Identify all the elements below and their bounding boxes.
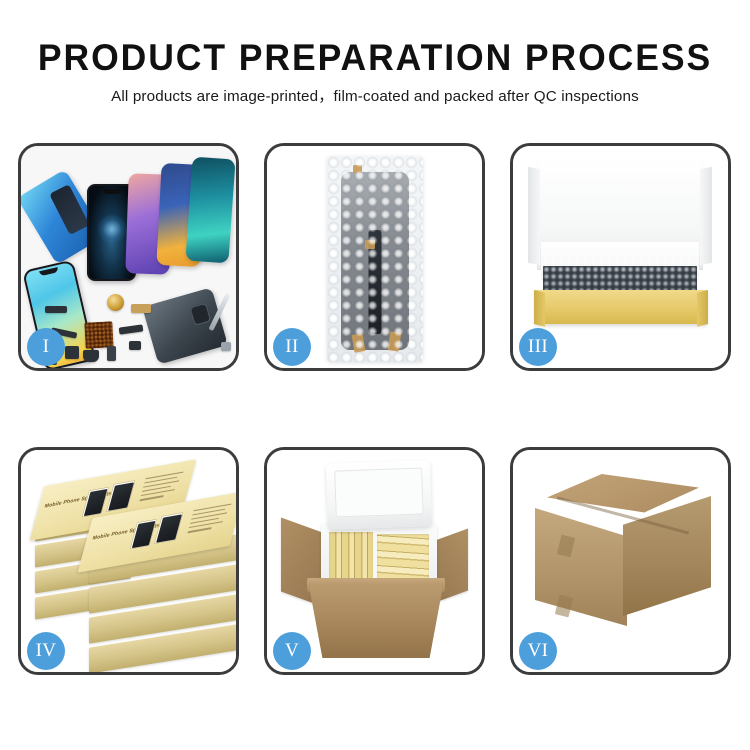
carton-side-face [623, 496, 711, 616]
page-title: PRODUCT PREPARATION PROCESS [15, 36, 735, 80]
teal-phone-icon [185, 157, 235, 264]
yellow-boxes-column-left [329, 532, 373, 580]
tape-strip-icon [353, 165, 362, 173]
step-panel-3[interactable]: III [510, 143, 731, 371]
step-badge-4: IV [27, 632, 65, 670]
tape-strip-icon [387, 331, 401, 351]
step-badge-1: I [27, 328, 65, 366]
step-panel-2[interactable]: II [264, 143, 485, 371]
spare-part-icon [131, 304, 151, 313]
packed-boxes-area [329, 530, 429, 582]
step-panel-6[interactable]: VI [510, 447, 731, 675]
step-badge-3: III [519, 328, 557, 366]
kraft-box-stack-icon: Mobile Phone Spare Parts Mobile Phone Sp… [31, 468, 231, 660]
chip-array-part-icon [84, 321, 113, 348]
bubble-padding-icon [543, 266, 697, 292]
carton-front-face [535, 508, 627, 626]
carton-tape-icon [555, 595, 573, 618]
box-spec-lines [185, 503, 236, 542]
step-badge-5: V [273, 632, 311, 670]
step-badge-2: II [273, 328, 311, 366]
header: PRODUCT PREPARATION PROCESS All products… [0, 0, 750, 107]
gold-coil-part-icon [107, 294, 124, 311]
step-panel-5[interactable]: V [264, 447, 485, 675]
spare-part-icon [119, 324, 144, 334]
tape-strip-icon [351, 333, 365, 352]
yellow-box-front-icon [535, 290, 707, 324]
spare-part-icon [107, 346, 116, 361]
box-window-icon [130, 519, 157, 550]
product-preparation-process-page: PRODUCT PREPARATION PROCESS All products… [0, 0, 750, 750]
box-window-icon [106, 480, 136, 512]
spare-part-icon [129, 341, 141, 350]
tape-strip-icon [365, 240, 375, 249]
page-subtitle: All products are image-printed，film-coat… [0, 87, 750, 107]
process-steps-grid: I II [18, 143, 732, 675]
spare-part-icon [65, 346, 79, 359]
spare-part-icon [83, 350, 99, 362]
step-badge-6: VI [519, 632, 557, 670]
foam-lid-icon [326, 460, 432, 530]
step-panel-1[interactable]: I [18, 143, 239, 371]
spare-part-icon [221, 342, 231, 351]
step-panel-4[interactable]: Mobile Phone Spare Parts Mobile Phone Sp… [18, 447, 239, 675]
yellow-boxes-column-right [377, 534, 429, 580]
box-window-icon [82, 487, 109, 518]
bubble-wrap-bag-icon [327, 156, 423, 362]
box-window-icon [154, 512, 184, 544]
spare-part-icon [45, 306, 67, 313]
carton-body-icon [309, 586, 443, 658]
sealed-carton-icon [535, 474, 711, 642]
